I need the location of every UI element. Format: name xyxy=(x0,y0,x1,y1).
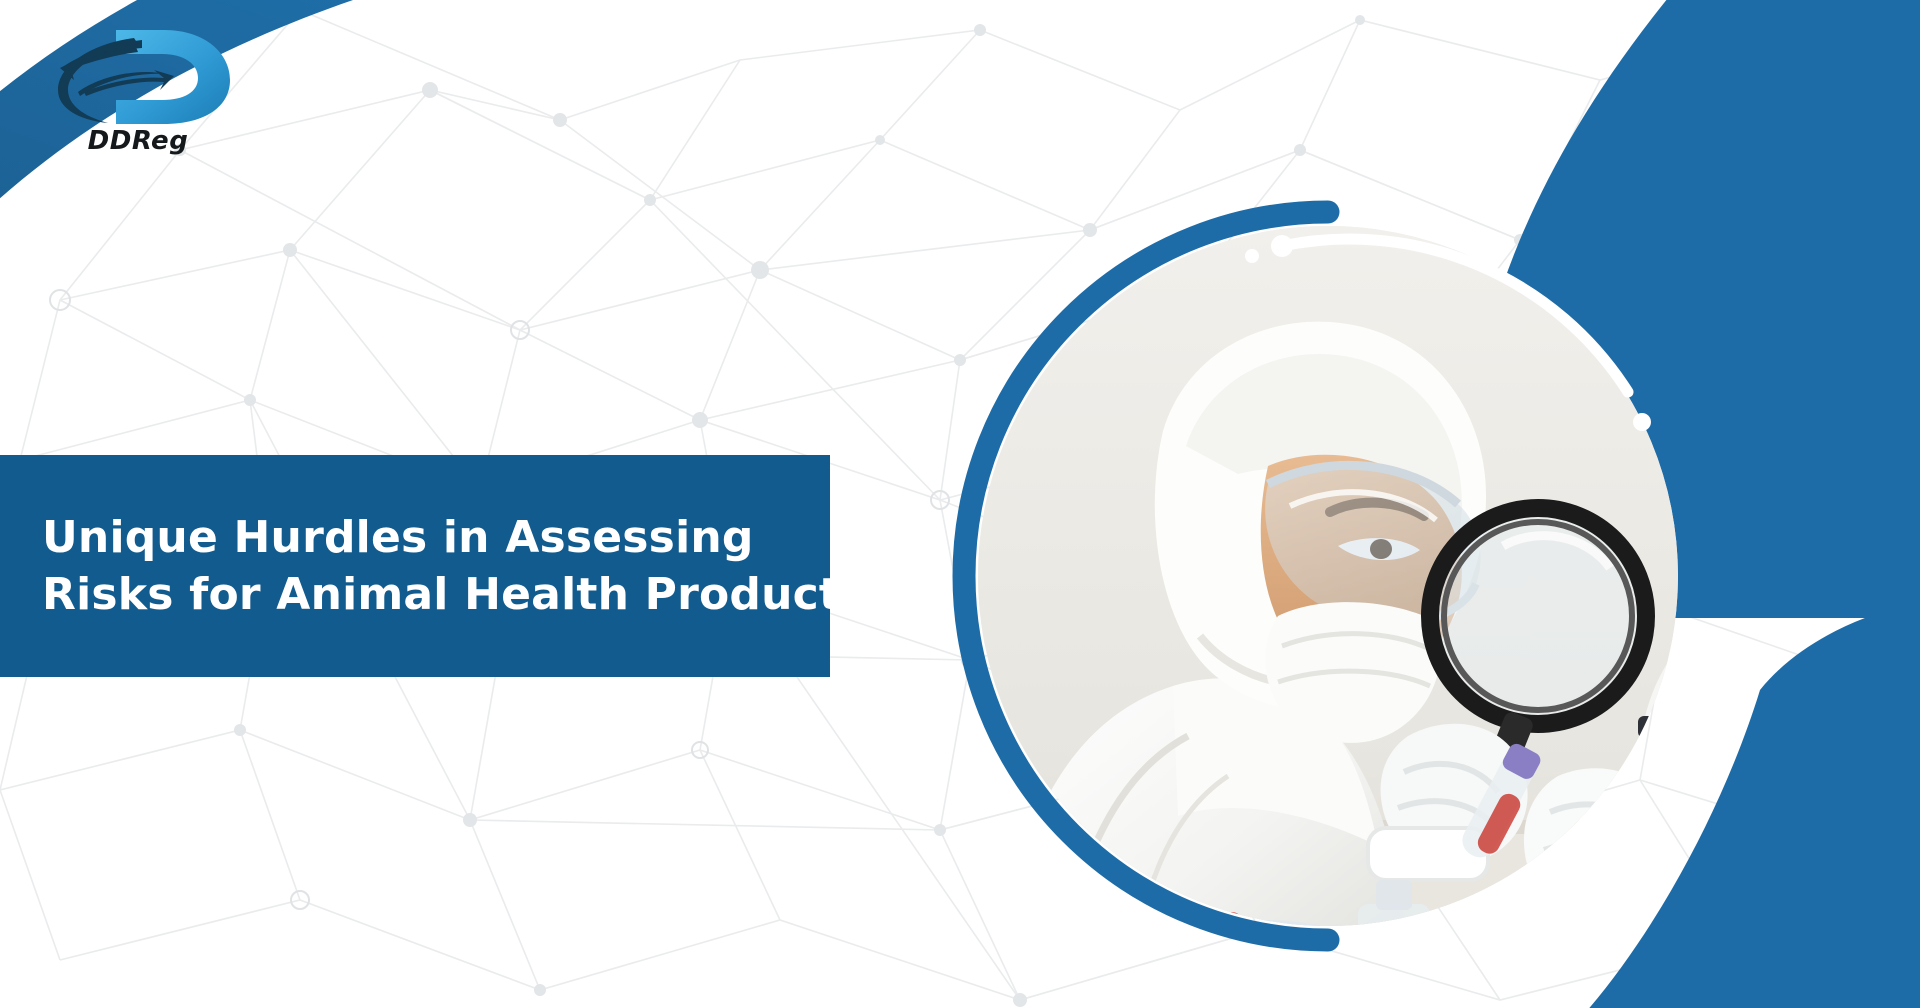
ring-dot xyxy=(1315,201,1331,217)
ddreg-logo-icon xyxy=(38,22,238,130)
marketing-banner: Unique Hurdles in Assessing Risks for An… xyxy=(0,0,1920,1008)
photo-circle-mask xyxy=(978,226,1678,926)
title-banner-band: Unique Hurdles in Assessing Risks for An… xyxy=(0,455,830,677)
page-title-line-2: Risks for Animal Health Products xyxy=(42,566,830,623)
brand-wordmark: DDReg xyxy=(38,126,238,156)
brand-logo[interactable]: DDReg xyxy=(38,22,238,162)
lab-scientist-illustration xyxy=(978,226,1678,926)
page-title-line-1: Unique Hurdles in Assessing xyxy=(42,509,830,566)
hero-photo xyxy=(952,200,1704,952)
